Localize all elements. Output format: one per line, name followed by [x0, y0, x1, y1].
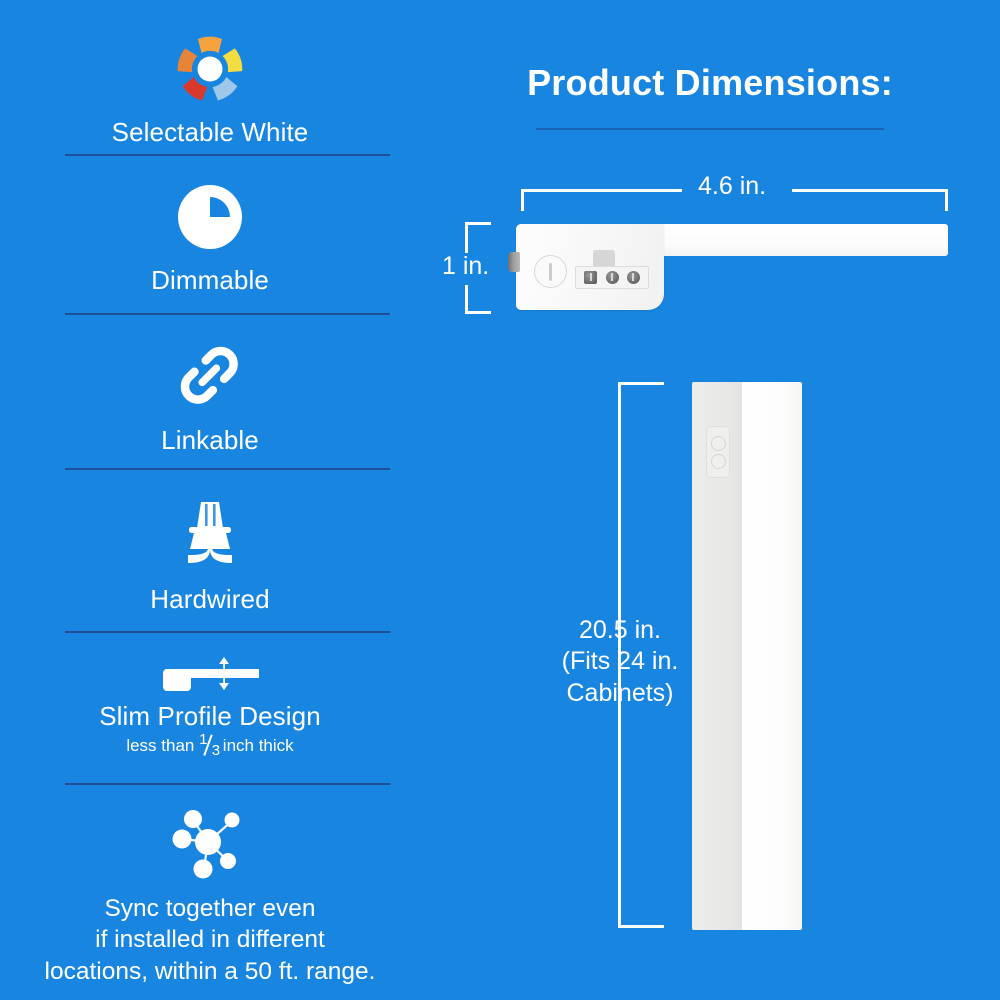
fixture-button-module[interactable]	[706, 426, 730, 478]
feature-label: Linkable	[161, 425, 259, 456]
feature-dimmable: Dimmable	[0, 180, 420, 296]
network-sync-icon	[170, 806, 250, 885]
sync-line-3: locations, within a 50 ft. range.	[45, 956, 376, 987]
length-line-3: Cabinets)	[510, 678, 730, 709]
module-button-top[interactable]	[711, 436, 726, 451]
product-infographic: Selectable White Dimmable	[0, 0, 1000, 1000]
wire-nut-icon	[170, 497, 250, 576]
fraction-one-third: 13	[199, 737, 218, 754]
length-dimension-label: 20.5 in. (Fits 24 in. Cabinets)	[510, 615, 730, 709]
dimensions-panel: Product Dimensions: 4.6 in. 1 in.	[420, 0, 1000, 1000]
feature-divider	[65, 468, 390, 470]
feature-divider	[65, 783, 390, 785]
sublabel-suffix: inch thick	[218, 736, 294, 755]
sublabel-prefix: less than	[126, 736, 199, 755]
feature-slim-profile: Slim Profile Design less than 13 inch th…	[0, 652, 420, 755]
feature-divider	[65, 313, 390, 315]
feature-linkable: Linkable	[0, 340, 420, 456]
product-length-view: 20.5 in. (Fits 24 in. Cabinets)	[420, 0, 1000, 1000]
feature-label: Hardwired	[150, 584, 269, 615]
feature-sync: Sync together even if installed in diffe…	[0, 806, 420, 987]
feature-selectable-white: Selectable White	[0, 26, 420, 148]
chain-link-icon	[172, 340, 248, 417]
fraction-denominator: 3	[212, 743, 220, 758]
length-line-2: (Fits 24 in.	[510, 646, 730, 677]
feature-divider	[65, 631, 390, 633]
sync-line-2: if installed in different	[45, 924, 376, 955]
slim-profile-icon	[151, 652, 269, 699]
feature-label: Sync together even if installed in diffe…	[45, 893, 376, 987]
feature-label: Dimmable	[151, 265, 269, 296]
feature-list: Selectable White Dimmable	[0, 0, 420, 1000]
module-button-bottom[interactable]	[711, 454, 726, 469]
dimmer-dial-icon	[173, 180, 247, 259]
feature-hardwired: Hardwired	[0, 497, 420, 615]
length-line-1: 20.5 in.	[510, 615, 730, 646]
feature-sublabel: less than 13 inch thick	[126, 736, 293, 756]
color-wheel-icon	[167, 26, 253, 117]
feature-label: Selectable White	[112, 117, 309, 148]
fixture-body-panel	[742, 382, 802, 930]
feature-label: Slim Profile Design	[99, 701, 321, 732]
sync-line-1: Sync together even	[45, 893, 376, 924]
feature-divider	[65, 154, 390, 156]
